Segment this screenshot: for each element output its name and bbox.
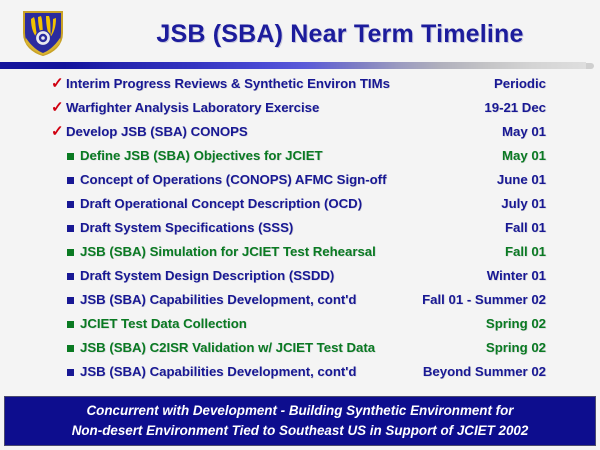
list-item-date: May 01 xyxy=(502,120,546,144)
list-item-date: Spring 02 xyxy=(486,312,546,336)
list-item[interactable]: Draft System Design Description (SSDD) W… xyxy=(0,264,600,288)
list-item-label: Define JSB (SBA) Objectives for JCIET xyxy=(80,144,323,168)
header-gradient-divider xyxy=(0,62,586,69)
list-item-date: Fall 01 xyxy=(505,216,546,240)
list-item-date: Fall 01 xyxy=(505,240,546,264)
footer-line-2: Non-desert Environment Tied to Southeast… xyxy=(72,421,529,441)
footer-banner: Concurrent with Development - Building S… xyxy=(4,396,596,446)
list-item-date: July 01 xyxy=(501,192,546,216)
list-item[interactable]: JSB (SBA) Capabilities Development, cont… xyxy=(0,288,600,312)
list-item[interactable]: ✓ Develop JSB (SBA) CONOPS May 01 xyxy=(0,120,600,144)
square-bullet-icon xyxy=(67,321,74,328)
list-item-date: June 01 xyxy=(497,168,546,192)
list-item[interactable]: Draft Operational Concept Description (O… xyxy=(0,192,600,216)
check-icon: ✓ xyxy=(51,96,67,120)
square-bullet-icon xyxy=(67,249,74,256)
square-bullet-icon xyxy=(67,345,74,352)
list-item[interactable]: Concept of Operations (CONOPS) AFMC Sign… xyxy=(0,168,600,192)
square-bullet-icon xyxy=(67,153,74,160)
list-item-label: JSB (SBA) Simulation for JCIET Test Rehe… xyxy=(80,240,376,264)
square-bullet-icon xyxy=(67,225,74,232)
list-item-label: Draft System Specifications (SSS) xyxy=(80,216,293,240)
check-icon: ✓ xyxy=(51,120,67,144)
list-item-label: Develop JSB (SBA) CONOPS xyxy=(66,120,248,144)
footer-line-1: Concurrent with Development - Building S… xyxy=(86,401,513,421)
list-item-label: Warfighter Analysis Laboratory Exercise xyxy=(66,96,319,120)
list-item[interactable]: ✓ Interim Progress Reviews & Synthetic E… xyxy=(0,72,600,96)
list-item-date: 19-21 Dec xyxy=(484,96,546,120)
list-item-label: JSB (SBA) C2ISR Validation w/ JCIET Test… xyxy=(80,336,375,360)
timeline-list: ✓ Interim Progress Reviews & Synthetic E… xyxy=(0,72,600,384)
list-item[interactable]: JSB (SBA) Simulation for JCIET Test Rehe… xyxy=(0,240,600,264)
list-item-date: Winter 01 xyxy=(487,264,546,288)
list-item-label: Draft System Design Description (SSDD) xyxy=(80,264,334,288)
list-item[interactable]: JCIET Test Data Collection Spring 02 xyxy=(0,312,600,336)
slide-header: JSB (SBA) Near Term Timeline xyxy=(0,0,600,62)
list-item-date: Periodic xyxy=(494,72,546,96)
page-title: JSB (SBA) Near Term Timeline xyxy=(90,13,590,55)
slide-canvas: JSB (SBA) Near Term Timeline ✓ Interim P… xyxy=(0,0,600,450)
list-item-label: JSB (SBA) Capabilities Development, cont… xyxy=(80,288,356,312)
square-bullet-icon xyxy=(67,201,74,208)
list-item[interactable]: ✓ Warfighter Analysis Laboratory Exercis… xyxy=(0,96,600,120)
square-bullet-icon xyxy=(67,177,74,184)
square-bullet-icon xyxy=(67,369,74,376)
square-bullet-icon xyxy=(67,297,74,304)
list-item[interactable]: Define JSB (SBA) Objectives for JCIET Ma… xyxy=(0,144,600,168)
list-item-label: Concept of Operations (CONOPS) AFMC Sign… xyxy=(80,168,386,192)
list-item-date: May 01 xyxy=(502,144,546,168)
list-item-label: Draft Operational Concept Description (O… xyxy=(80,192,362,216)
header-divider-endcap xyxy=(586,63,594,69)
list-item[interactable]: Draft System Specifications (SSS) Fall 0… xyxy=(0,216,600,240)
check-icon: ✓ xyxy=(51,72,67,96)
list-item-label: Interim Progress Reviews & Synthetic Env… xyxy=(66,72,390,96)
square-bullet-icon xyxy=(67,273,74,280)
list-item-date: Beyond Summer 02 xyxy=(423,360,546,384)
list-item-label: JSB (SBA) Capabilities Development, cont… xyxy=(80,360,356,384)
list-item-date: Spring 02 xyxy=(486,336,546,360)
list-item[interactable]: JSB (SBA) Capabilities Development, cont… xyxy=(0,360,600,384)
list-item-date: Fall 01 - Summer 02 xyxy=(422,288,546,312)
list-item-label: JCIET Test Data Collection xyxy=(80,312,247,336)
usaf-shield-emblem-icon xyxy=(18,7,68,57)
list-item[interactable]: JSB (SBA) C2ISR Validation w/ JCIET Test… xyxy=(0,336,600,360)
